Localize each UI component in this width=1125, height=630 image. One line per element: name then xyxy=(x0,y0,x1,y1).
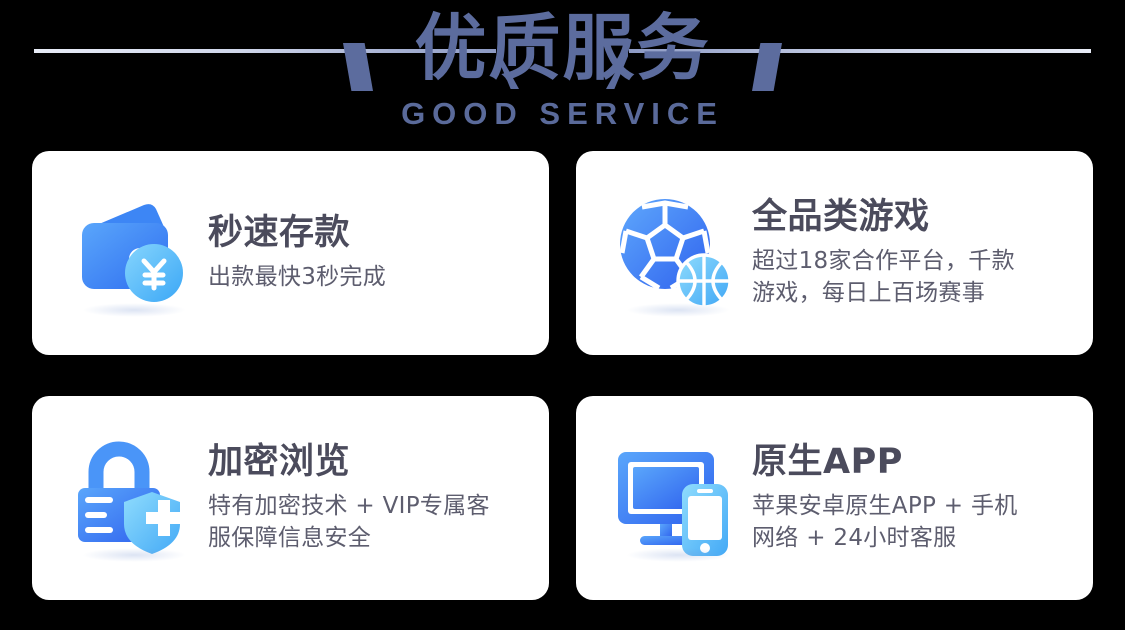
card-description: 特有加密技术 + VIP专属客服保障信息安全 xyxy=(208,490,533,555)
card-title: 原生APP xyxy=(752,441,1077,484)
device-glyph xyxy=(612,438,736,558)
icon-shadow xyxy=(626,548,730,562)
promo-banner: 优质服务 GOOD SERVICE xyxy=(0,0,1125,630)
card-description: 出款最快3秒完成 xyxy=(208,261,533,294)
feature-card-games[interactable]: 全品类游戏 超过18家合作平台，千款游戏，每日上百场赛事 xyxy=(576,151,1093,355)
monitor-phone-icon xyxy=(604,428,744,568)
card-text-block: 原生APP 苹果安卓原生APP + 手机网络 + 24小时客服 xyxy=(744,441,1077,555)
feature-card-deposit[interactable]: 秒速存款 出款最快3秒完成 xyxy=(32,151,549,355)
lock-shield-icon xyxy=(60,428,200,568)
feature-card-grid: 秒速存款 出款最快3秒完成 xyxy=(32,151,1093,600)
page-subtitle: GOOD SERVICE xyxy=(0,96,1125,132)
banner-header: 优质服务 GOOD SERVICE xyxy=(0,0,1125,140)
page-title: 优质服务 xyxy=(0,6,1125,91)
wallet-icon xyxy=(60,183,200,323)
lock-glyph xyxy=(70,438,190,558)
soccer-basketball-icon xyxy=(604,183,744,323)
card-title: 加密浏览 xyxy=(208,441,533,484)
icon-shadow xyxy=(626,303,730,317)
card-title: 全品类游戏 xyxy=(752,196,1077,239)
ball-glyph xyxy=(612,191,736,315)
wallet-glyph xyxy=(70,193,190,313)
icon-shadow xyxy=(82,548,186,562)
feature-card-encryption[interactable]: 加密浏览 特有加密技术 + VIP专属客服保障信息安全 xyxy=(32,396,549,600)
card-title: 秒速存款 xyxy=(208,212,533,255)
icon-shadow xyxy=(82,303,186,317)
card-text-block: 秒速存款 出款最快3秒完成 xyxy=(200,212,533,293)
feature-card-native-app[interactable]: 原生APP 苹果安卓原生APP + 手机网络 + 24小时客服 xyxy=(576,396,1093,600)
card-description: 苹果安卓原生APP + 手机网络 + 24小时客服 xyxy=(752,490,1077,555)
card-description: 超过18家合作平台，千款游戏，每日上百场赛事 xyxy=(752,245,1077,310)
card-text-block: 全品类游戏 超过18家合作平台，千款游戏，每日上百场赛事 xyxy=(744,196,1077,310)
card-text-block: 加密浏览 特有加密技术 + VIP专属客服保障信息安全 xyxy=(200,441,533,555)
